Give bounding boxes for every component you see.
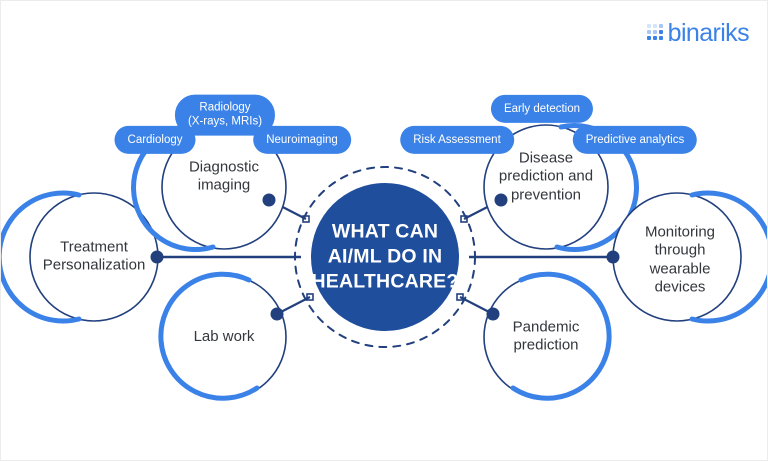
connector-dot-left <box>151 251 164 264</box>
connector-dot-top-right <box>495 194 508 207</box>
center-title-line-3: HEALTHCARE? <box>295 269 475 294</box>
center-title-line-1: WHAT CAN <box>295 220 475 245</box>
brand-logo[interactable]: binariks <box>647 17 749 47</box>
pill-radiology-line-2: (X-rays, MRIs) <box>188 115 262 129</box>
pill-risk-assessment[interactable]: Risk Assessment <box>400 126 514 154</box>
node-circle-monitoring-wearables[interactable] <box>607 193 768 321</box>
connector-dot-top-left <box>263 194 276 207</box>
connector-dot-bottom-left <box>271 308 284 321</box>
pill-predictive-analytics[interactable]: Predictive analytics <box>573 126 697 154</box>
connector-dot-bottom-right <box>487 308 500 321</box>
dot-matrix-icon <box>647 24 663 40</box>
center-title: WHAT CAN AI/ML DO IN HEALTHCARE? <box>295 220 475 295</box>
pill-neuroimaging[interactable]: Neuroimaging <box>253 126 351 154</box>
center-title-line-2: AI/ML DO IN <box>295 245 475 270</box>
pill-early-detection[interactable]: Early detection <box>491 95 593 123</box>
node-circle-pandemic-prediction[interactable] <box>484 274 609 399</box>
pill-radiology-line-1: Radiology <box>188 101 262 115</box>
node-circle-lab-work[interactable] <box>161 274 286 399</box>
brand-logo-text: binariks <box>668 21 749 46</box>
infographic-canvas: WHAT CAN AI/ML DO IN HEALTHCARE? Treatme… <box>0 0 768 461</box>
connector-dot-right <box>607 251 620 264</box>
